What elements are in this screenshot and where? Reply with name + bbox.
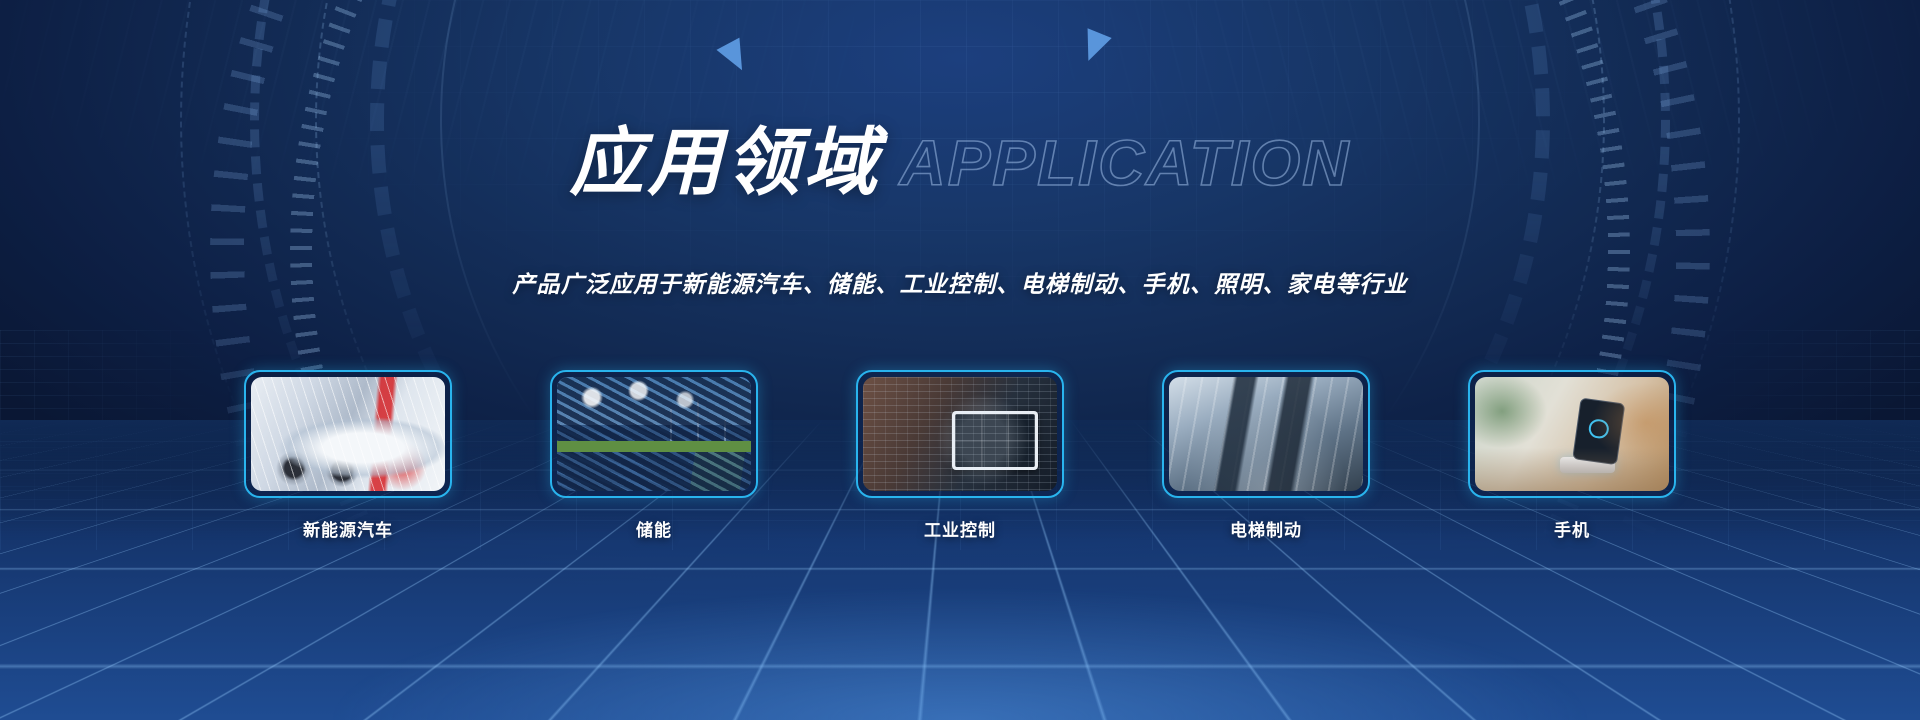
solar-wind-energy-storage-photo [557, 377, 751, 491]
page-title-cn: 应用领域 [569, 126, 881, 200]
wind-turbine-icon [670, 409, 672, 448]
solar-panels-decor [557, 425, 751, 491]
application-card-energy-storage[interactable]: 储能 [550, 370, 758, 541]
charging-stand-icon [1560, 457, 1614, 473]
grass-strip-decor [689, 443, 746, 491]
elevator-shaft-photo [1169, 377, 1363, 491]
tablet-device-icon [952, 411, 1037, 470]
card-label: 新能源汽车 [303, 516, 393, 541]
card-label: 储能 [636, 516, 672, 541]
electric-vehicle-photo [251, 377, 445, 491]
application-card-list: 新能源汽车 储能 [0, 370, 1920, 541]
page-title-en: APPLICATION [899, 131, 1350, 195]
smartphone-icon [1572, 397, 1625, 464]
industrial-control-tablet-photo [863, 377, 1057, 491]
card-frame[interactable] [550, 370, 758, 498]
card-frame[interactable] [1162, 370, 1370, 498]
card-label: 电梯制动 [1230, 516, 1302, 541]
application-card-elevator-brake[interactable]: 电梯制动 [1162, 370, 1370, 541]
banner-subtitle: 产品广泛应用于新能源汽车、储能、工业控制、电梯制动、手机、照明、家电等行业 [0, 265, 1920, 299]
card-frame[interactable] [856, 370, 1064, 498]
application-banner: 应用领域 APPLICATION 产品广泛应用于新能源汽车、储能、工业控制、电梯… [0, 0, 1920, 720]
application-card-industrial-control[interactable]: 工业控制 [856, 370, 1064, 541]
smartphone-wireless-charger-photo [1475, 377, 1669, 491]
application-card-mobile-phone[interactable]: 手机 [1468, 370, 1676, 541]
wind-turbine-icon [724, 420, 726, 452]
banner-content: 应用领域 APPLICATION 产品广泛应用于新能源汽车、储能、工业控制、电梯… [0, 0, 1920, 720]
card-frame[interactable] [244, 370, 452, 498]
banner-title-row: 应用领域 APPLICATION [0, 126, 1920, 200]
card-label: 工业控制 [924, 516, 996, 541]
application-card-ev[interactable]: 新能源汽车 [244, 370, 452, 541]
card-frame[interactable] [1468, 370, 1676, 498]
wind-turbine-icon [697, 400, 699, 450]
sky-decor [557, 377, 751, 443]
card-label: 手机 [1554, 516, 1590, 541]
